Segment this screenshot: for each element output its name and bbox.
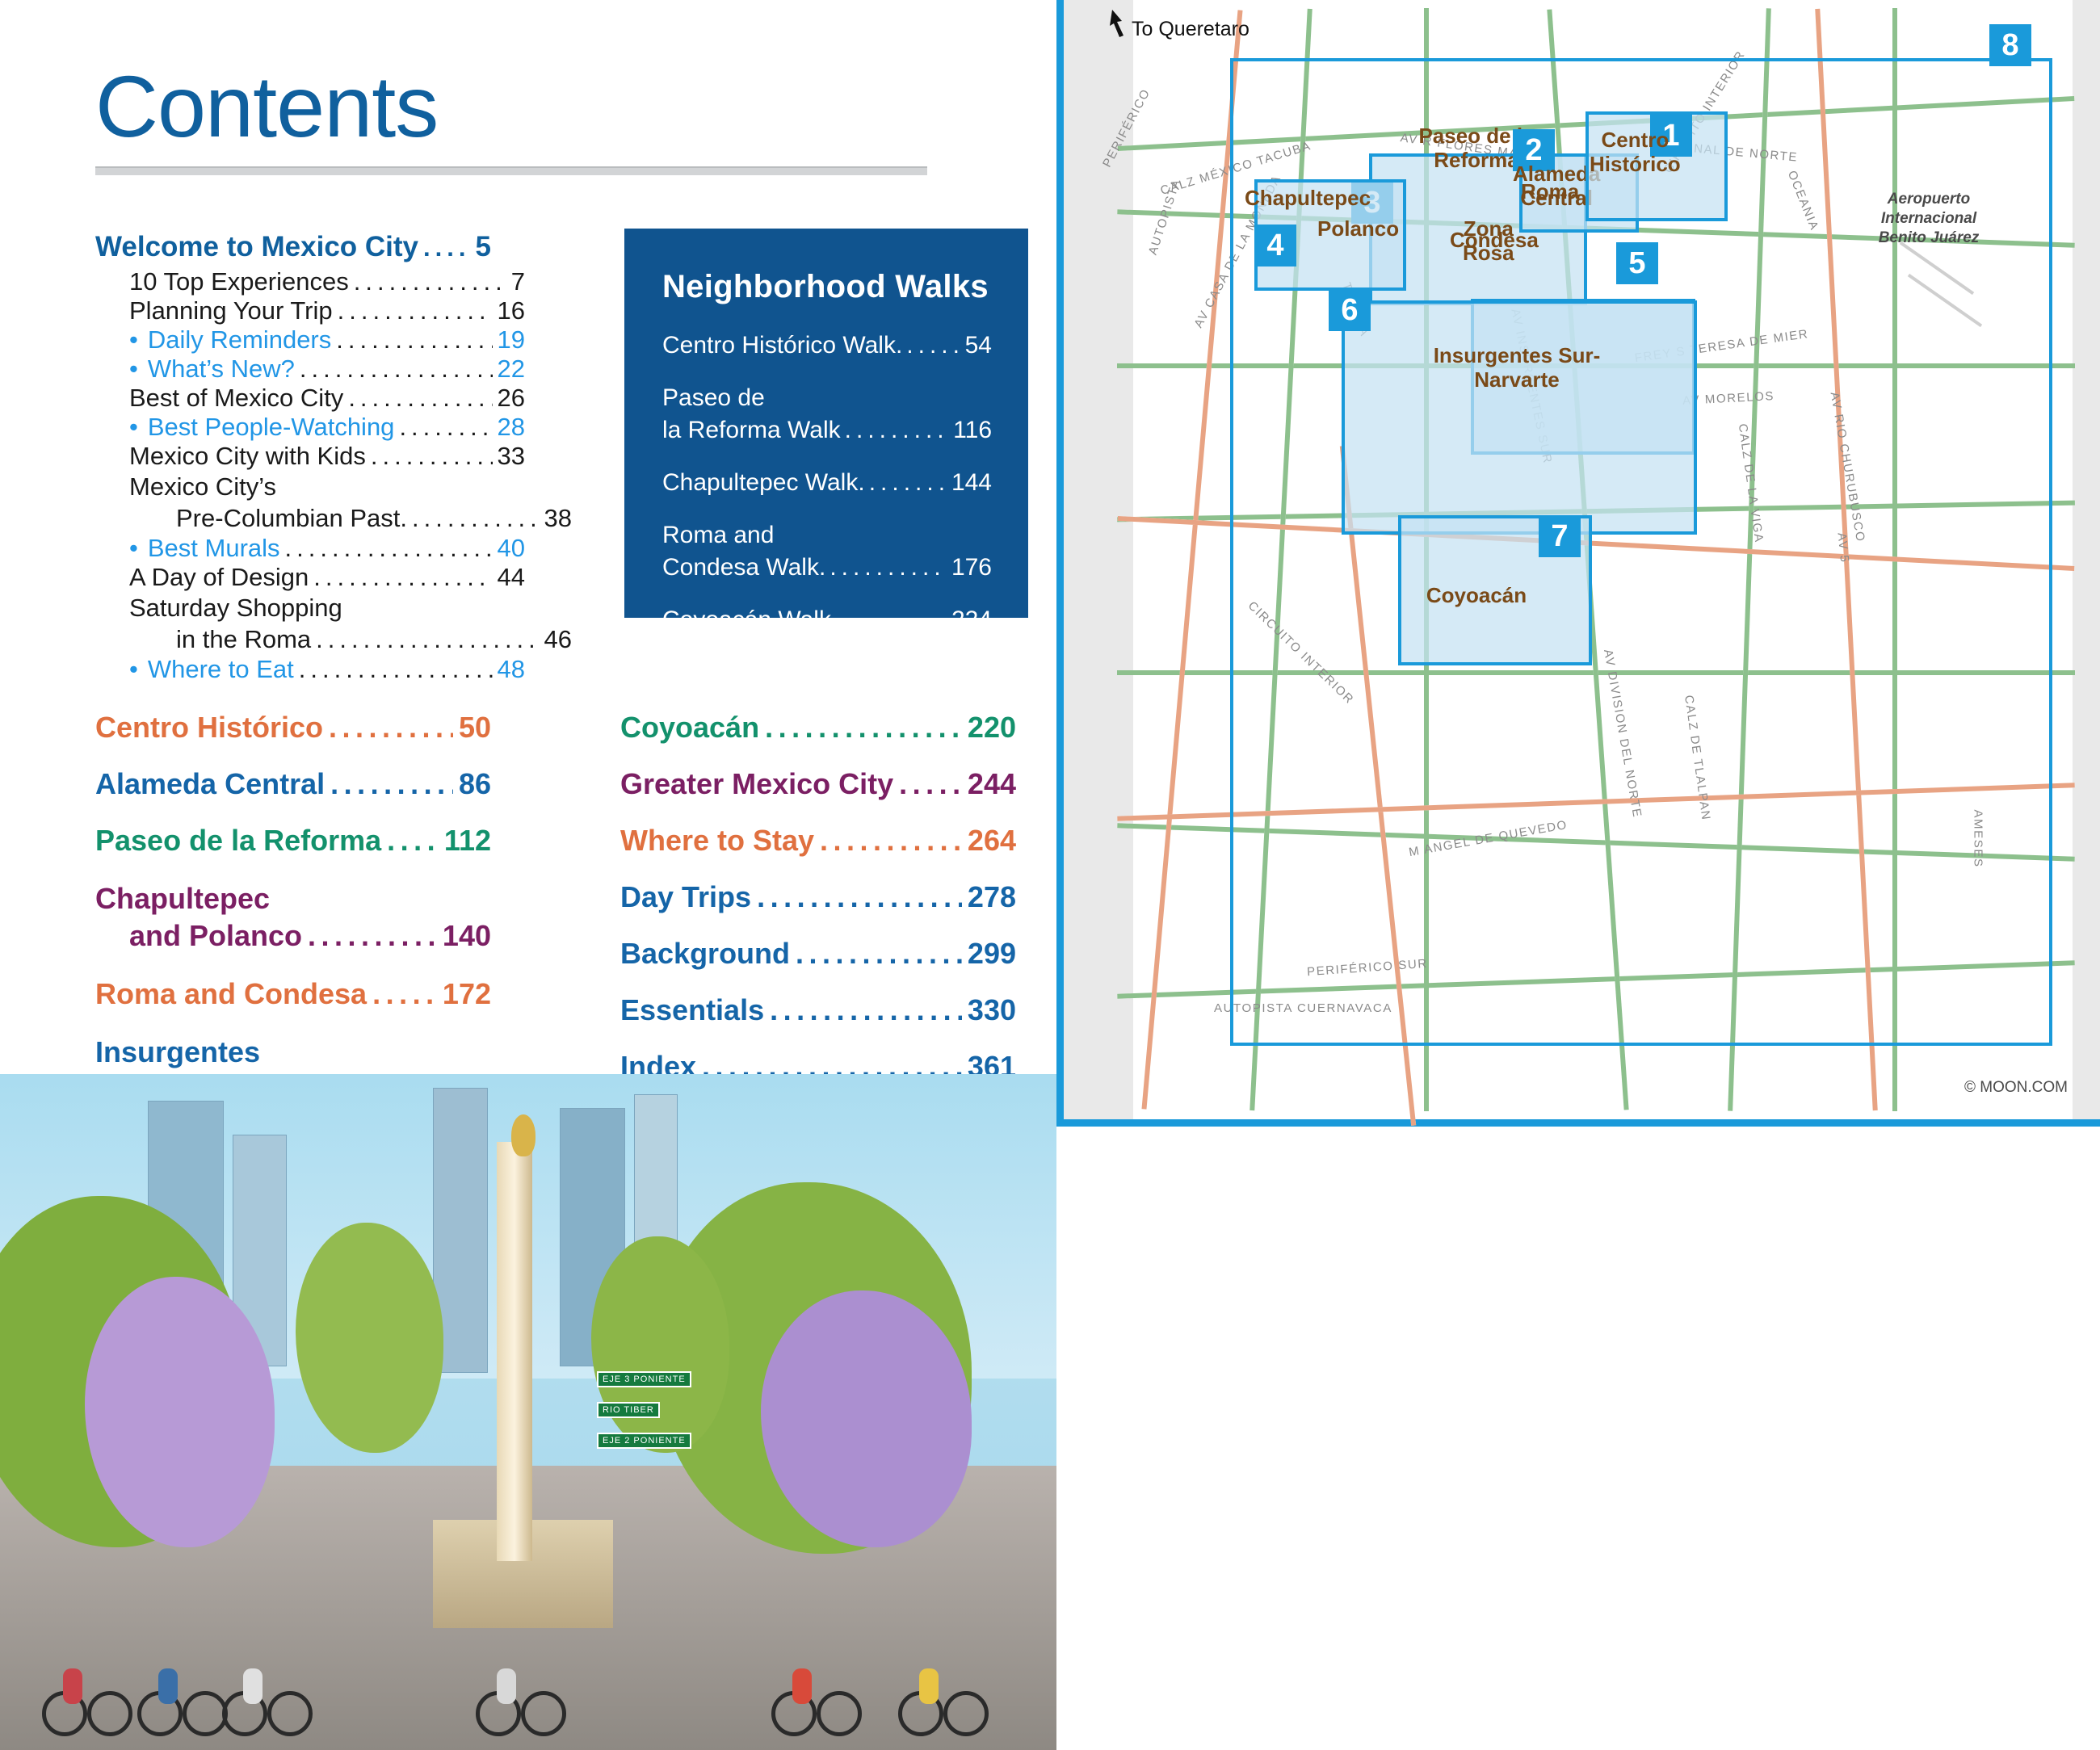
toc-entry-page: 22 (498, 355, 525, 384)
toc-entry[interactable]: •Where to Eat...........................… (95, 655, 525, 684)
leader-dots: ........................................… (399, 413, 492, 442)
toc-entry-page: 28 (498, 413, 525, 442)
zone-badge-6: 6 (1329, 289, 1371, 331)
toc-entry[interactable]: A Day of Design.........................… (95, 563, 525, 592)
map-margin-right (2073, 0, 2100, 1119)
street-sign: EJE 3 PONIENTE (597, 1371, 691, 1387)
walk-entry-label: Condesa Walk. (662, 552, 825, 584)
reforma-photo: EJE 3 PONIENTE RIO TIBER EJE 2 PONIENTE (0, 1074, 1056, 1750)
zone-badge-7: 7 (1539, 515, 1581, 557)
leader-dots: ........................................… (300, 355, 493, 384)
neighborhood-walks-box: Neighborhood Walks Centro Histórico Walk… (624, 229, 1028, 618)
toc-entry-label: Where to Eat (148, 655, 294, 684)
zone-6-area (1342, 300, 1697, 535)
walk-entry-label: Chapultepec Walk. (662, 467, 865, 499)
chapter-entry[interactable]: Background..............................… (620, 937, 1016, 971)
toc-entry-page: 44 (498, 563, 525, 592)
zone-label-polanco: Polanco (1317, 216, 1399, 241)
chapter-label: Background (620, 937, 790, 971)
chapter-page: 86 (459, 767, 491, 801)
leader-dots: ........................................… (372, 977, 437, 1011)
leader-dots: ........................................… (371, 442, 493, 471)
toc-chapters-right: Coyoacán................................… (620, 711, 1016, 1106)
chapter-label: and Polanco (129, 917, 302, 955)
walk-entry[interactable]: Roma andCondesa Walk....................… (662, 519, 992, 584)
photo-tree (296, 1223, 443, 1453)
chapter-page: 140 (443, 917, 491, 955)
toc-entry-label: Welcome to Mexico City (95, 228, 418, 266)
walk-entry-page: 224 (951, 604, 992, 636)
title-divider (95, 166, 927, 175)
toc-entry[interactable]: •Best Murals............................… (95, 534, 525, 563)
chapter-entry[interactable]: Essentials..............................… (620, 993, 1016, 1027)
leader-dots: ........................................… (336, 325, 492, 355)
walk-entry[interactable]: Coyoacán Walk...........................… (662, 604, 992, 636)
chapter-entry[interactable]: Day Trips...............................… (620, 880, 1016, 914)
chapter-label: Where to Stay (620, 824, 814, 858)
zone-label-4: Chapultepec (1245, 186, 1371, 210)
toc-entry-label: 10 Top Experiences (129, 267, 349, 296)
street-sign: RIO TIBER (597, 1402, 660, 1418)
walk-entry-label: Centro Histórico Walk. (662, 329, 902, 362)
chapter-entry[interactable]: Alameda Central.........................… (95, 767, 491, 801)
toc-entry-label: What’s New? (148, 355, 295, 384)
chapter-label: Centro Histórico (95, 711, 323, 745)
zone-label-7: Coyoacán (1400, 583, 1553, 607)
chapter-entry[interactable]: Roma and Condesa........................… (95, 977, 491, 1011)
photo-tree (591, 1236, 729, 1453)
to-queretaro-label: To Queretaro (1132, 18, 1249, 41)
toc-entry-page: 5 (476, 228, 491, 266)
toc-chapters-left: Centro Histórico........................… (95, 711, 491, 1131)
leader-dots: ........................................… (329, 711, 453, 745)
chapter-page: 220 (968, 711, 1016, 745)
walk-entry-label: Paseo de (662, 382, 992, 414)
zone-badge-5: 5 (1616, 242, 1658, 284)
walk-entry-label: la Reforma Walk (662, 414, 841, 447)
toc-entry[interactable]: Welcome to Mexico City..................… (95, 228, 491, 267)
toc-front-list: Welcome to Mexico City..................… (95, 228, 491, 684)
chapter-page: 330 (968, 993, 1016, 1027)
toc-entry-label: Mexico City’s (95, 471, 491, 502)
walk-entry-page: 54 (965, 329, 992, 362)
toc-entry[interactable]: Planning Your Trip......................… (95, 296, 525, 325)
leader-dots: ........................................… (338, 296, 493, 325)
chapter-label: Chapultepec (95, 880, 491, 917)
toc-entry-label: in the Roma (176, 623, 311, 655)
chapter-label: Insurgentes (95, 1034, 491, 1071)
bullet-icon: • (129, 534, 138, 563)
walk-entry-label: Roma and (662, 519, 992, 552)
chapter-page: 299 (968, 937, 1016, 971)
toc-entry[interactable]: Mexico City’sPre-Columbian Past.........… (95, 471, 491, 534)
toc-entry-label: Pre-Columbian Past. (176, 502, 407, 534)
leader-dots: ........................................… (757, 880, 962, 914)
chapter-entry[interactable]: Where to Stay...........................… (620, 824, 1016, 858)
chapter-entry[interactable]: Centro Histórico........................… (95, 711, 491, 745)
toc-entry-page: 33 (498, 442, 525, 471)
leader-dots: ........................................… (829, 552, 947, 584)
zone-label-5: Roma (1521, 179, 1579, 204)
toc-entry-page: 40 (498, 534, 525, 563)
leader-dots: ........................................… (869, 467, 947, 499)
walk-entry[interactable]: Chapultepec Walk........................… (662, 467, 992, 499)
zone-badge-8: 8 (1989, 24, 2031, 66)
toc-entry-label: Planning Your Trip (129, 296, 333, 325)
overview-map: PERIFÉRICO CALZ MÉXICO TACUBA AV CASA DE… (1056, 0, 2100, 1127)
toc-entry[interactable]: Mexico City with Kids...................… (95, 442, 525, 471)
walk-entry-label: Coyoacán Walk. (662, 604, 838, 636)
toc-entry[interactable]: 10 Top Experiences......................… (95, 267, 525, 296)
leader-dots: ........................................… (412, 502, 540, 534)
chapter-label: Essentials (620, 993, 764, 1027)
leader-dots: ........................................… (299, 655, 493, 684)
toc-entry[interactable]: •Best People-Watching...................… (95, 413, 525, 442)
chapter-label: Day Trips (620, 880, 751, 914)
street-sign: EJE 2 PONIENTE (597, 1433, 691, 1449)
toc-entry-page: 7 (511, 267, 525, 296)
zone-label-condesa: Condesa (1450, 228, 1539, 252)
leader-dots: ........................................… (899, 767, 962, 801)
neighborhood-walks-title: Neighborhood Walks (662, 269, 989, 305)
chapter-page: 172 (443, 977, 491, 1011)
walk-entry-page: 116 (953, 414, 992, 447)
leader-dots: ........................................… (845, 414, 950, 447)
chapter-entry[interactable]: Chapultepecand Polanco..................… (95, 880, 491, 955)
airport-label: AeropuertoInternacionalBenito Juárez (1852, 190, 2005, 248)
zone-label-6: Insurgentes Sur-Narvarte (1375, 343, 1658, 392)
toc-entry-label: Best of Mexico City (129, 384, 343, 413)
leader-dots: ........................................… (348, 384, 492, 413)
leader-dots: ........................................… (330, 767, 453, 801)
toc-entry-label: Mexico City with Kids (129, 442, 366, 471)
chapter-label: Coyoacán (620, 711, 759, 745)
bullet-icon: • (129, 325, 138, 355)
chapter-entry[interactable]: Coyoacán................................… (620, 711, 1016, 745)
leader-dots: ........................................… (308, 917, 437, 955)
chapter-page: 112 (444, 824, 491, 858)
leader-dots: ........................................… (285, 534, 493, 563)
chapter-page: 278 (968, 880, 1016, 914)
toc-entry-label: Daily Reminders (148, 325, 331, 355)
chapter-label: Paseo de la Reforma (95, 824, 381, 858)
contents-page: Contents Welcome to Mexico City.........… (0, 0, 1056, 1750)
toc-entry-page: 16 (498, 296, 525, 325)
leader-dots: ........................................… (765, 711, 962, 745)
chapter-label: Alameda Central (95, 767, 325, 801)
photo-angel-column (497, 1142, 532, 1561)
walk-entry-page: 176 (951, 552, 992, 584)
photo-angel-statue (511, 1114, 535, 1156)
toc-entry-label: Saturday Shopping (95, 592, 491, 623)
bullet-icon: • (129, 355, 138, 384)
leader-dots: ........................................… (842, 604, 947, 636)
page-title: Contents (95, 63, 438, 150)
direction-arrow-icon (1106, 6, 1141, 45)
chapter-entry[interactable]: Greater Mexico City.....................… (620, 767, 1016, 801)
neighborhood-walks-list: Centro Histórico Walk...................… (662, 329, 992, 657)
leader-dots: ........................................… (820, 824, 962, 858)
toc-entry[interactable]: •What’s New?............................… (95, 355, 525, 384)
chapter-label: Roma and Condesa (95, 977, 367, 1011)
leader-dots: ........................................… (906, 329, 960, 362)
chapter-page: 244 (968, 767, 1016, 801)
leader-dots: ........................................… (770, 993, 962, 1027)
toc-entry[interactable]: Saturday Shoppingin the Roma............… (95, 592, 491, 655)
toc-entry-page: 38 (544, 502, 572, 534)
leader-dots: ........................................… (354, 267, 506, 296)
toc-entry-page: 19 (498, 325, 525, 355)
bullet-icon: • (129, 655, 138, 684)
walk-entry[interactable]: Paseo dela Reforma Walk.................… (662, 382, 992, 447)
leader-dots: ........................................… (313, 563, 492, 592)
toc-entry-page: 46 (544, 623, 572, 655)
toc-entry-label: Best People-Watching (148, 413, 395, 442)
leader-dots: ........................................… (316, 623, 539, 655)
toc-entry-label: A Day of Design (129, 563, 309, 592)
chapter-label: Greater Mexico City (620, 767, 893, 801)
toc-entry-page: 48 (498, 655, 525, 684)
map-copyright: © MOON.COM (1964, 1079, 2068, 1097)
maps-page: PERIFÉRICO CALZ MÉXICO TACUBA AV CASA DE… (1056, 0, 2100, 1750)
zone-badge-4: 4 (1254, 225, 1296, 266)
toc-entry-label: Best Murals (148, 534, 280, 563)
chapter-page: 264 (968, 824, 1016, 858)
leader-dots: ........................................… (796, 937, 962, 971)
map-margin-left (1064, 0, 1133, 1119)
leader-dots: ........................................… (423, 229, 471, 267)
toc-entry[interactable]: Best of Mexico City.....................… (95, 384, 525, 413)
chapter-page: 50 (459, 711, 491, 745)
chapter-entry[interactable]: Paseo de la Reforma.....................… (95, 824, 491, 858)
toc-entry[interactable]: •Daily Reminders........................… (95, 325, 525, 355)
map-canvas: PERIFÉRICO CALZ MÉXICO TACUBA AV CASA DE… (1133, 24, 2054, 1094)
walk-entry-page: 144 (951, 467, 992, 499)
walk-entry[interactable]: Centro Histórico Walk...................… (662, 329, 992, 362)
toc-entry-page: 26 (498, 384, 525, 413)
leader-dots: ........................................… (387, 824, 439, 858)
bullet-icon: • (129, 413, 138, 442)
zone-label-1: CentroHistórico (1590, 128, 1681, 176)
